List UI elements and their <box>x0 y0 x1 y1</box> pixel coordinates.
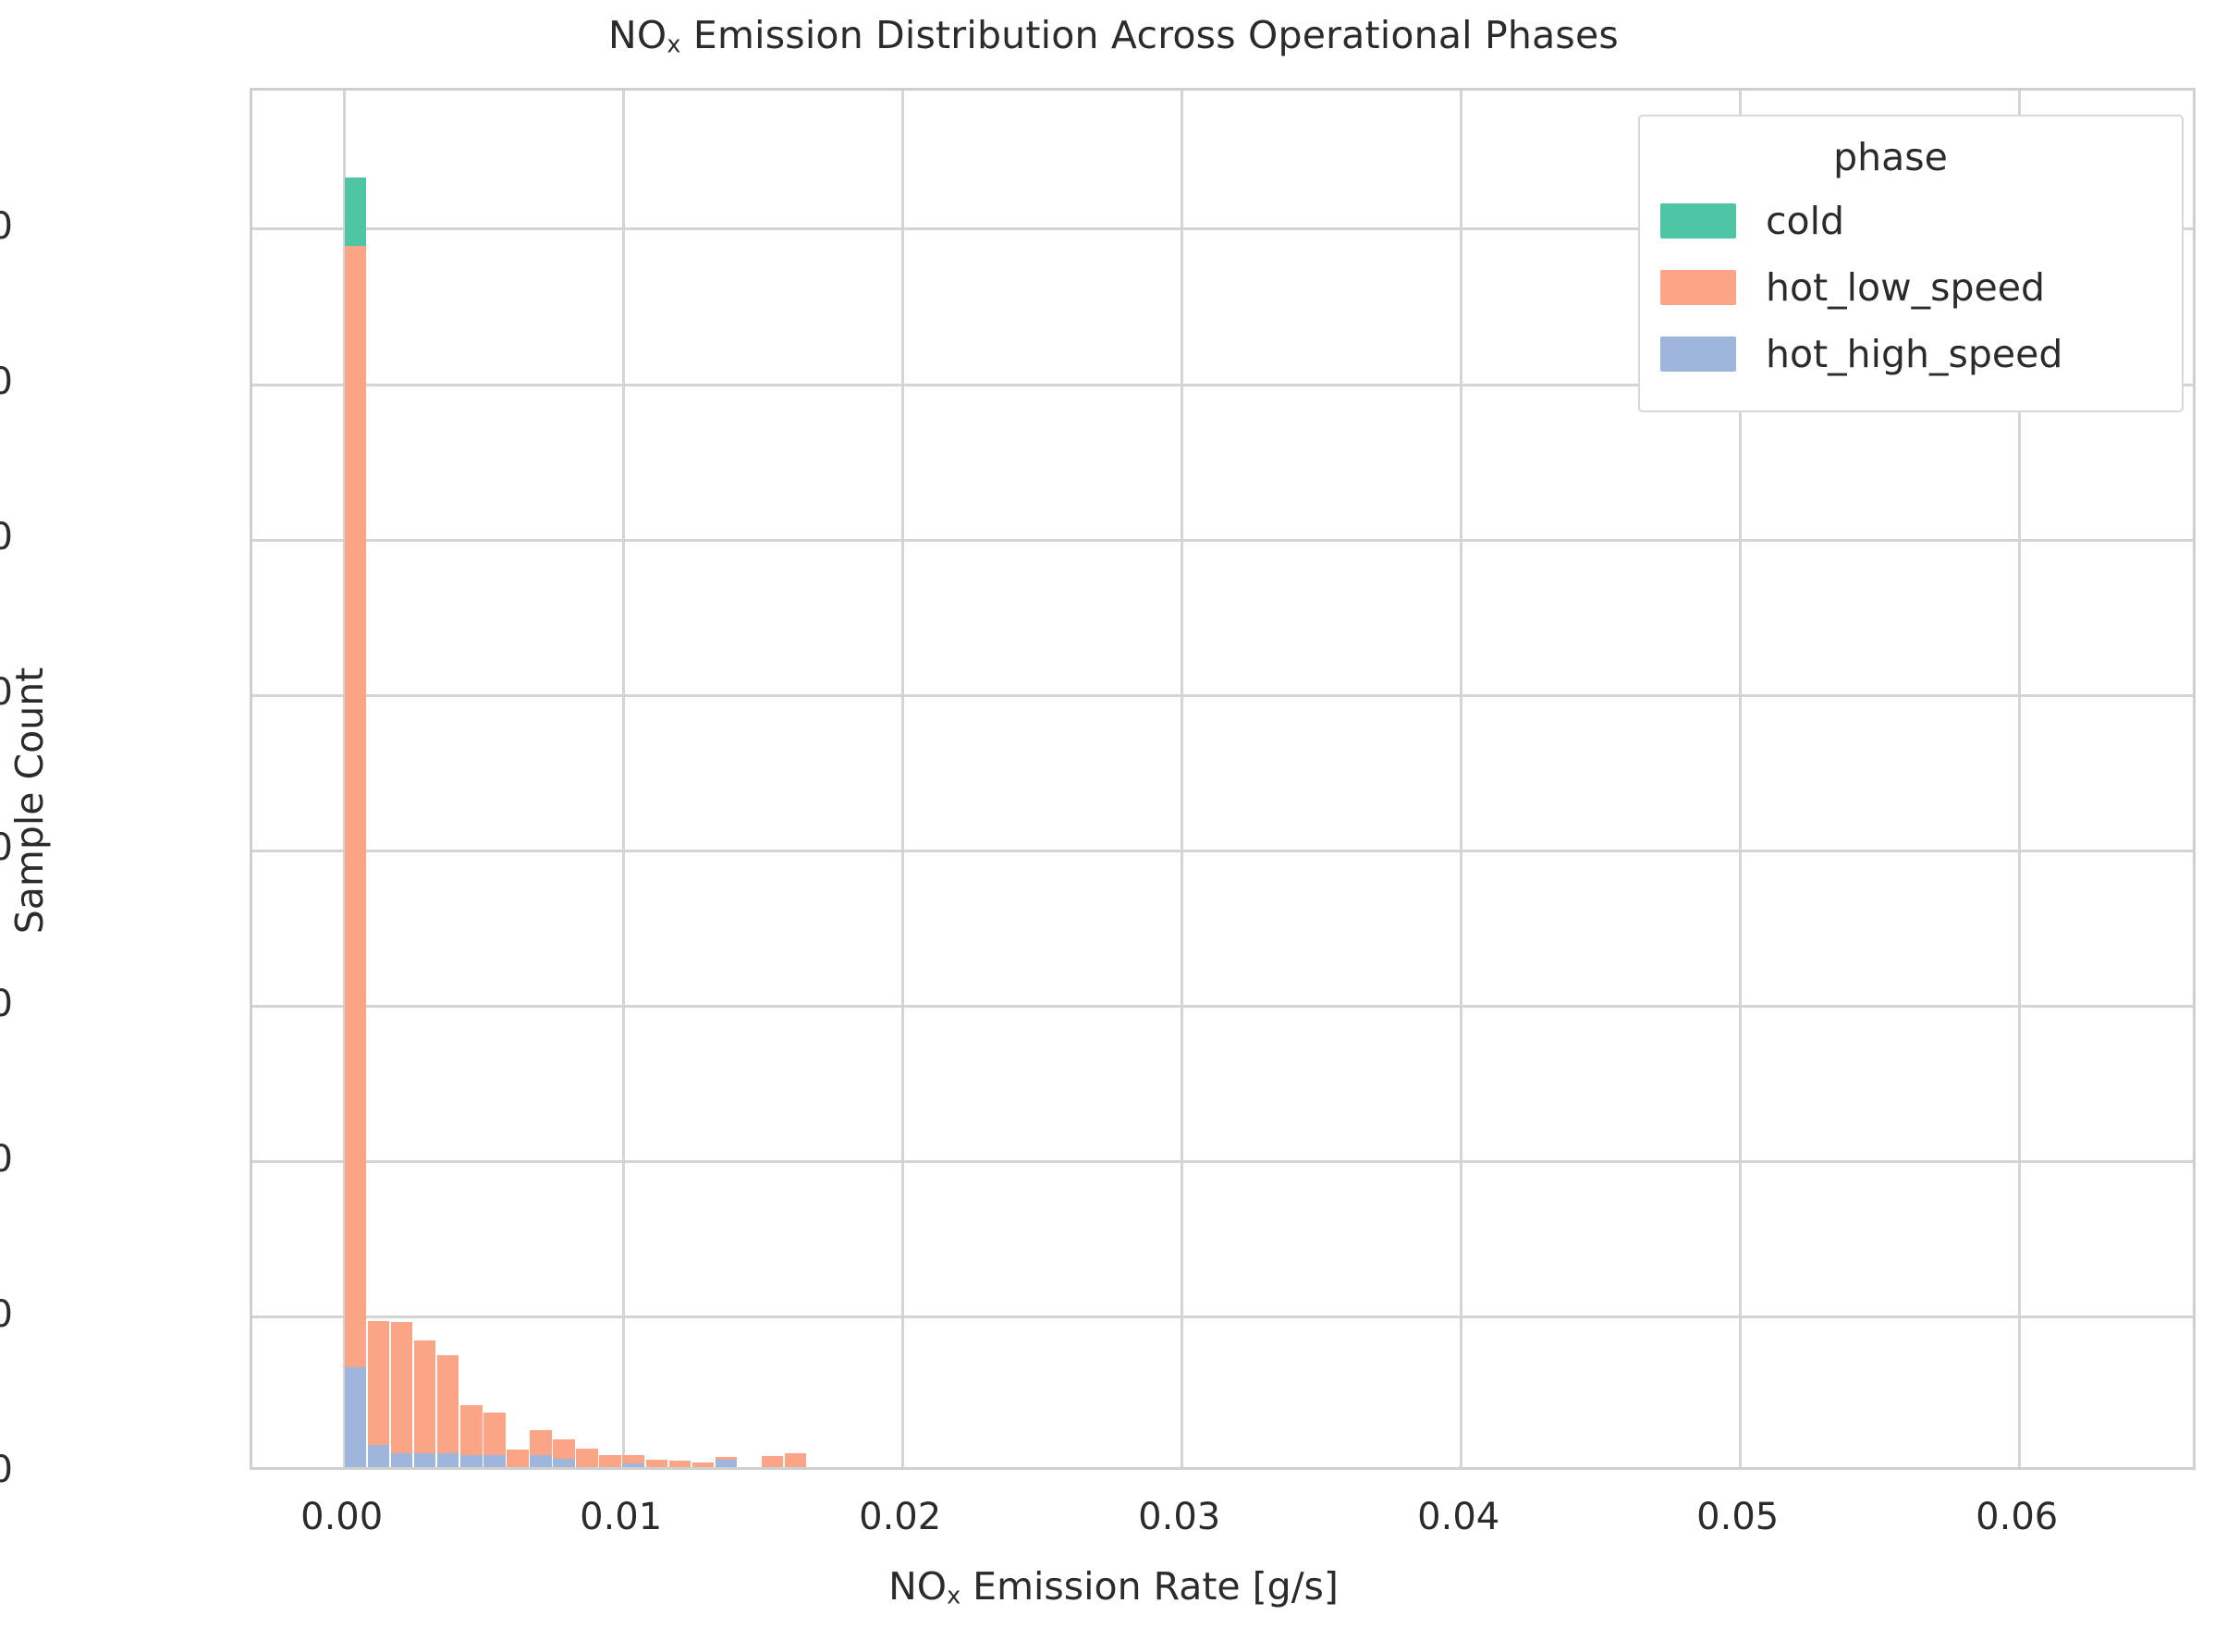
bar-segment-hot_low_speed <box>437 1355 459 1453</box>
bar-segment-hot_low_speed <box>553 1439 575 1458</box>
x-axis-label-pre: NO <box>888 1564 947 1609</box>
x-tick-label: 0.03 <box>1059 1496 1300 1538</box>
bar-segment-hot_low_speed <box>785 1453 807 1467</box>
x-tick-label: 0.05 <box>1618 1496 1858 1538</box>
bar-segment-hot_low_speed <box>345 246 367 1368</box>
bar-segment-hot_low_speed <box>669 1461 691 1467</box>
bar-segment-hot_high_speed <box>483 1455 506 1467</box>
legend-entry-hot_high_speed[interactable]: hot_high_speed <box>1660 325 2161 383</box>
x-tick-label: 0.04 <box>1339 1496 1579 1538</box>
histogram-bar <box>368 1321 390 1467</box>
legend-label-cold: cold <box>1766 199 1844 243</box>
y-axis-label: Sample Count <box>7 431 52 1170</box>
bar-segment-hot_low_speed <box>530 1430 552 1455</box>
histogram-bar <box>507 1450 529 1467</box>
bar-segment-hot_high_speed <box>368 1445 390 1467</box>
legend-label-hot_low_speed: hot_low_speed <box>1766 265 2045 310</box>
bar-segment-hot_low_speed <box>716 1457 738 1460</box>
histogram-bar <box>553 1439 575 1467</box>
bar-segment-hot_low_speed <box>692 1462 715 1467</box>
chart-title-post: Emission Distribution Across Operational… <box>681 13 1619 57</box>
histogram-bar <box>716 1457 738 1467</box>
chart-title: NOx Emission Distribution Across Operati… <box>0 13 2227 58</box>
y-tick-label: 250 <box>0 1293 13 1336</box>
bar-segment-hot_low_speed <box>391 1322 413 1454</box>
legend-swatch-hot_high_speed <box>1660 337 1736 372</box>
histogram-bar <box>483 1413 506 1467</box>
bar-segment-hot_high_speed <box>622 1463 644 1467</box>
bar-segment-hot_low_speed <box>646 1460 668 1467</box>
bar-segment-hot_low_speed <box>483 1413 506 1455</box>
x-axis-label-post: Emission Rate [g/s] <box>961 1564 1339 1609</box>
bar-segment-hot_low_speed <box>762 1456 784 1467</box>
histogram-bar <box>345 177 367 1467</box>
histogram-bar <box>646 1460 668 1467</box>
legend-entries: coldhot_low_speedhot_high_speed <box>1660 192 2161 383</box>
y-tick-label: 2000 <box>0 205 13 248</box>
legend-swatch-hot_low_speed <box>1660 270 1736 305</box>
x-tick-label: 0.00 <box>222 1496 462 1538</box>
x-axis-label-subscript: x <box>947 1582 961 1609</box>
histogram-bar <box>762 1456 784 1467</box>
bar-segment-hot_low_speed <box>507 1450 529 1467</box>
histogram-bar <box>391 1322 413 1467</box>
bar-segment-hot_low_speed <box>460 1405 483 1455</box>
histogram-bar <box>460 1405 483 1467</box>
histogram-bar <box>669 1461 691 1467</box>
x-tick-label: 0.02 <box>780 1496 1021 1538</box>
bar-segment-hot_low_speed <box>414 1340 436 1453</box>
legend-title: phase <box>1660 135 2161 179</box>
chart-title-subscript: x <box>667 31 680 58</box>
bar-segment-hot_low_speed <box>368 1321 390 1446</box>
legend-label-hot_high_speed: hot_high_speed <box>1766 332 2062 376</box>
bar-segment-hot_low_speed <box>576 1449 598 1467</box>
histogram-bar <box>599 1455 621 1467</box>
y-tick-label: 0 <box>0 1449 13 1491</box>
histogram-bar <box>414 1340 436 1467</box>
legend-entry-cold[interactable]: cold <box>1660 192 2161 250</box>
legend-entry-hot_low_speed[interactable]: hot_low_speed <box>1660 259 2161 316</box>
bar-segment-hot_high_speed <box>391 1453 413 1467</box>
chart-title-pre: NO <box>608 13 667 57</box>
x-tick-label: 0.01 <box>501 1496 741 1538</box>
bar-segment-hot_high_speed <box>437 1453 459 1467</box>
legend-swatch-cold <box>1660 203 1736 239</box>
histogram-bar <box>692 1462 715 1467</box>
bar-segment-hot_high_speed <box>460 1455 483 1467</box>
bar-segment-cold <box>345 177 367 246</box>
bar-segment-hot_high_speed <box>414 1453 436 1467</box>
histogram-bar <box>576 1449 598 1467</box>
legend: phase coldhot_low_speedhot_high_speed <box>1638 115 2184 412</box>
histogram-bar <box>622 1455 644 1467</box>
bar-segment-hot_high_speed <box>716 1460 738 1467</box>
histogram-bar <box>785 1453 807 1467</box>
y-tick-label: 1750 <box>0 361 13 403</box>
histogram-bar <box>437 1355 459 1467</box>
histogram-bar <box>530 1430 552 1467</box>
bar-segment-hot_low_speed <box>599 1455 621 1467</box>
x-tick-label: 0.06 <box>1897 1496 2137 1538</box>
bar-segment-hot_high_speed <box>530 1455 552 1467</box>
bar-segment-hot_low_speed <box>622 1455 644 1463</box>
chart-figure: NOx Emission Distribution Across Operati… <box>0 0 2227 1652</box>
bar-segment-hot_high_speed <box>553 1459 575 1467</box>
x-axis-label: NOx Emission Rate [g/s] <box>0 1564 2227 1609</box>
bar-segment-hot_high_speed <box>345 1367 367 1467</box>
